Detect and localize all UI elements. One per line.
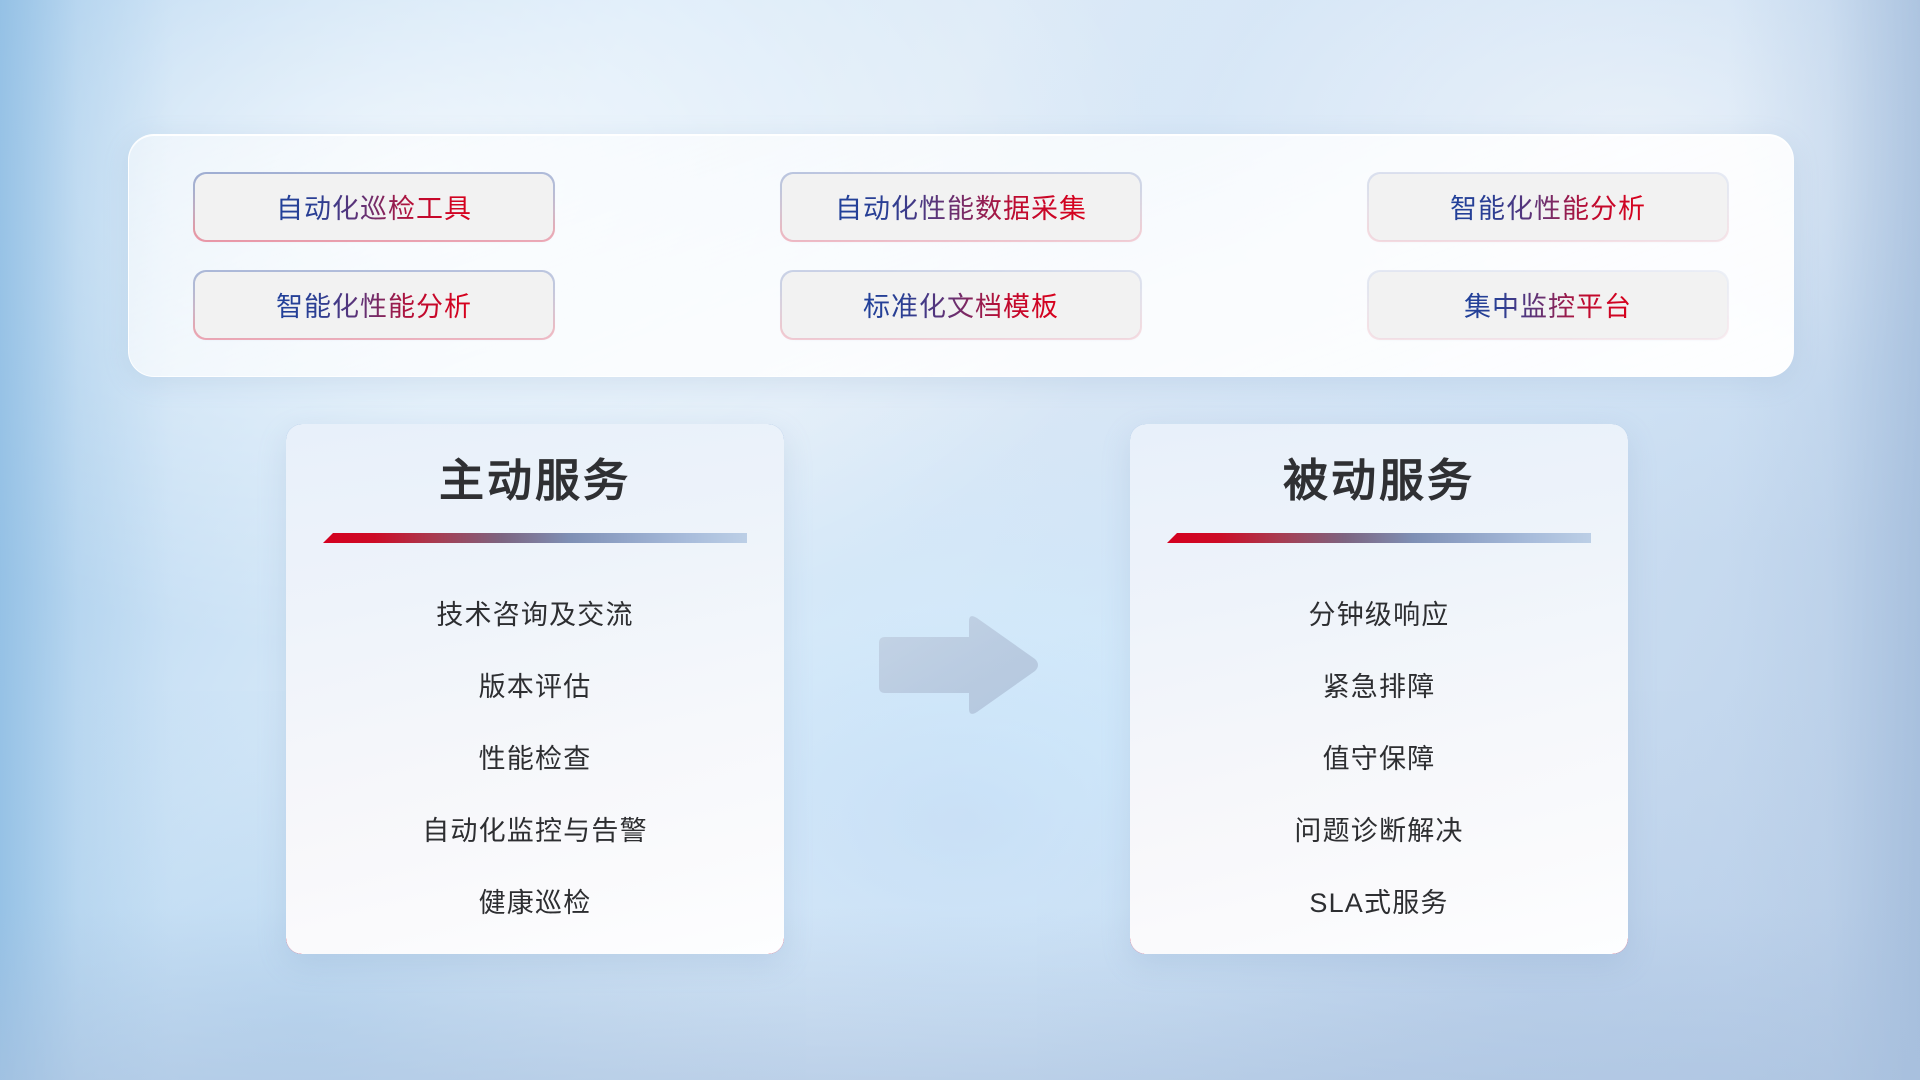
card-list-item: 技术咨询及交流 bbox=[436, 579, 633, 651]
capability-pill-label: 智能化性能分析 bbox=[1450, 187, 1646, 226]
capability-pill-label: 标准化文档模板 bbox=[863, 285, 1059, 324]
card-divider bbox=[1167, 533, 1591, 543]
capability-pill-auto-performance-data-collection[interactable]: 自动化性能数据采集 bbox=[782, 174, 1140, 240]
capability-pill-label: 集中监控平台 bbox=[1464, 285, 1632, 324]
pill-surface: 标准化文档模板 bbox=[782, 272, 1140, 338]
card-list-item: 版本评估 bbox=[479, 651, 592, 723]
capability-pill-label: 自动化性能数据采集 bbox=[835, 187, 1087, 226]
card-divider bbox=[323, 533, 747, 543]
card-title: 被动服务 bbox=[1283, 458, 1475, 503]
capability-pill-intelligent-performance-analysis[interactable]: 智能化性能分析 bbox=[1369, 174, 1727, 240]
service-card-proactive[interactable]: 主动服务 技术咨询及交流 版本评估 性能检查 自动化监控与告警 健康巡检 bbox=[286, 424, 784, 954]
arrow-right-icon bbox=[873, 613, 1041, 717]
capability-pill-auto-inspection-tool[interactable]: 自动化巡检工具 bbox=[195, 174, 553, 240]
pill-surface: 智能化性能分析 bbox=[1369, 174, 1727, 240]
card-list-item: 值守保障 bbox=[1323, 723, 1436, 795]
capability-row-1: 自动化巡检工具 自动化性能数据采集 智能化性能分析 bbox=[195, 174, 1727, 240]
card-list-item: 分钟级响应 bbox=[1309, 579, 1450, 651]
card-title: 主动服务 bbox=[439, 458, 631, 503]
pill-surface: 自动化巡检工具 bbox=[195, 174, 553, 240]
card-list-item: 紧急排障 bbox=[1323, 651, 1436, 723]
capability-pill-centralized-monitoring-platform[interactable]: 集中监控平台 bbox=[1369, 272, 1727, 338]
service-card-reactive[interactable]: 被动服务 分钟级响应 紧急排障 值守保障 问题诊断解决 SLA式服务 bbox=[1130, 424, 1628, 954]
pill-surface: 集中监控平台 bbox=[1369, 272, 1727, 338]
card-surface: 主动服务 技术咨询及交流 版本评估 性能检查 自动化监控与告警 健康巡检 bbox=[286, 424, 784, 954]
capability-pill-intelligent-performance-analysis-2[interactable]: 智能化性能分析 bbox=[195, 272, 553, 338]
card-surface: 被动服务 分钟级响应 紧急排障 值守保障 问题诊断解决 SLA式服务 bbox=[1130, 424, 1628, 954]
card-item-list: 分钟级响应 紧急排障 值守保障 问题诊断解决 SLA式服务 bbox=[1130, 579, 1628, 939]
card-list-item: 自动化监控与告警 bbox=[422, 795, 648, 867]
capability-pill-label: 自动化巡检工具 bbox=[276, 187, 472, 226]
card-list-item: 性能检查 bbox=[479, 723, 592, 795]
capability-pill-standard-document-template[interactable]: 标准化文档模板 bbox=[782, 272, 1140, 338]
pill-surface: 自动化性能数据采集 bbox=[782, 174, 1140, 240]
card-item-list: 技术咨询及交流 版本评估 性能检查 自动化监控与告警 健康巡检 bbox=[286, 579, 784, 939]
card-list-item: SLA式服务 bbox=[1309, 867, 1448, 939]
pill-surface: 智能化性能分析 bbox=[195, 272, 553, 338]
card-list-item: 问题诊断解决 bbox=[1294, 795, 1463, 867]
diagram-stage: 自动化巡检工具 自动化性能数据采集 智能化性能分析 智能化性能分析 bbox=[0, 0, 1920, 1080]
card-list-item: 健康巡检 bbox=[479, 867, 592, 939]
capability-panel: 自动化巡检工具 自动化性能数据采集 智能化性能分析 智能化性能分析 bbox=[128, 134, 1794, 377]
capability-row-2: 智能化性能分析 标准化文档模板 集中监控平台 bbox=[195, 272, 1727, 338]
capability-pill-label: 智能化性能分析 bbox=[276, 285, 472, 324]
